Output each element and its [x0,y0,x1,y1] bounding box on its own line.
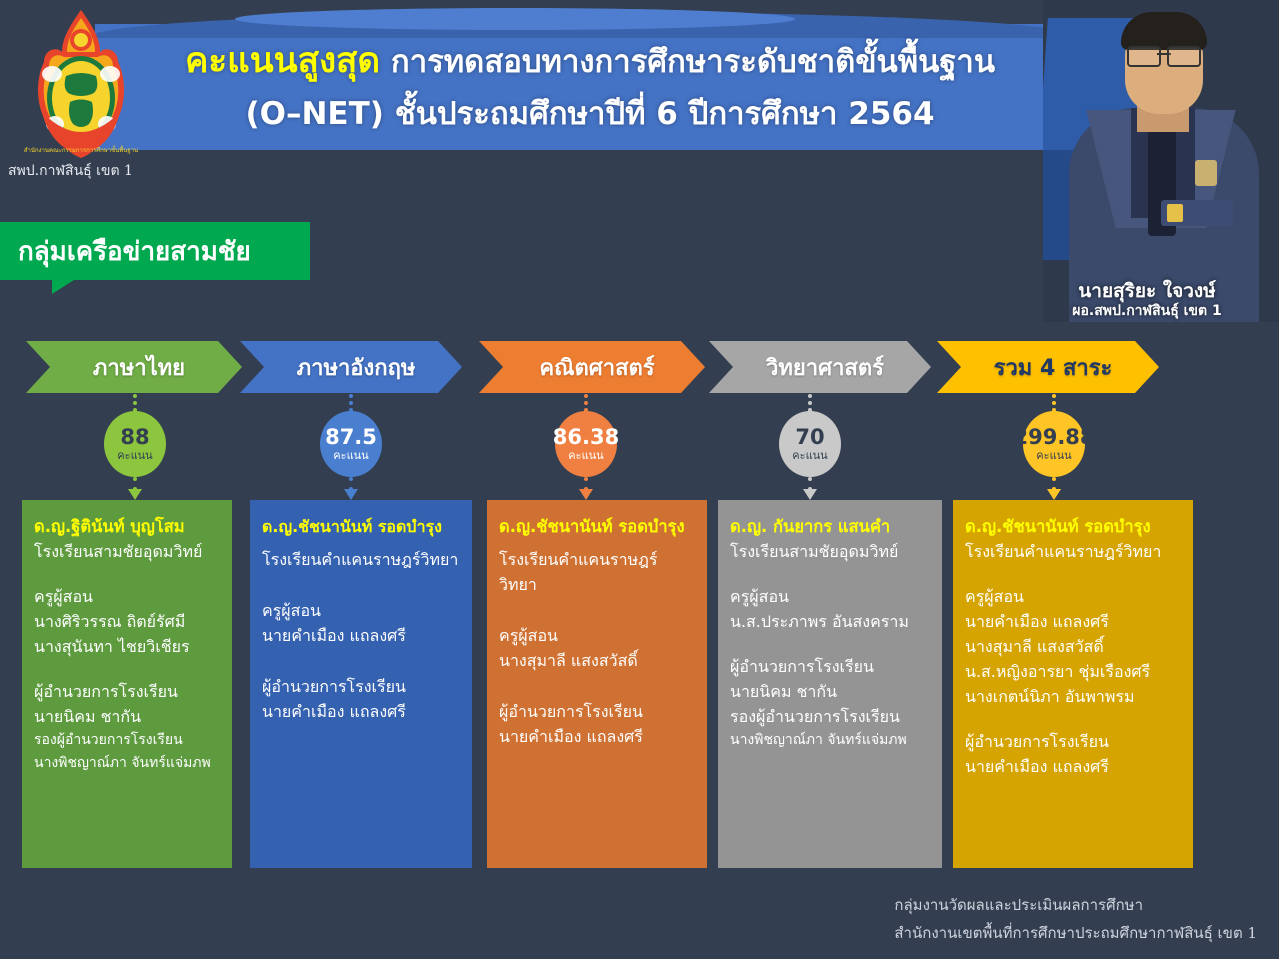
subject-tab-label: รวม 4 สาระ [984,350,1113,385]
score-unit: คะแนน [117,449,152,462]
subject-tab-label: ภาษาอังกฤษ [287,350,416,385]
teacher-name: นางศิริวรรณ ถิตย์รัศมี [34,609,220,634]
score-unit: คะแนน [333,449,368,462]
student-name: ด.ญ.ชัชนานันท์ รอดบำรุง [965,514,1181,539]
teacher-label: ครูผู้สอน [262,598,460,623]
group-name-label: กลุ่มเครือข่ายสามชัย [0,231,251,272]
student-name: ด.ญ. กันยากร แสนคำ [730,514,930,539]
result-card-math: ด.ญ.ชัชนานันท์ รอดบำรุง โรงเรียนคำแคนราษ… [487,500,707,868]
subject-tab-science[interactable]: วิทยาศาสตร์ [709,341,931,393]
teacher-name: นางสุมาลี แสงสวัสดิ์ [499,648,695,673]
director-label: ผู้อำนวยการโรงเรียน [965,729,1181,754]
portrait-role: ผอ.สพป.กาฬสินธุ์ เขต 1 [1015,302,1279,320]
director-name: นายนิคม ชากัน [34,704,220,729]
subject-tab-label: วิทยาศาสตร์ [756,350,884,385]
title-highlight: คะแนนสูงสุด [185,41,380,81]
director-label: ผู้อำนวยการโรงเรียน [262,674,460,699]
score-value: 88 [120,426,149,448]
subject-tab-english[interactable]: ภาษาอังกฤษ [240,341,462,393]
result-card-english: ด.ญ.ชัชนานันท์ รอดบำรุง โรงเรียนคำแคนราษ… [250,500,472,868]
subject-tab-math[interactable]: คณิตศาสตร์ [479,341,705,393]
subject-tab-total[interactable]: รวม 4 สาระ [937,341,1159,393]
arrow-down-icon [344,489,358,500]
teacher-label: ครูผู้สอน [34,584,220,609]
score-value: 86.38 [553,426,619,448]
student-name: ด.ญ.ชัชนานันท์ รอดบำรุง [499,514,695,539]
teacher-label: ครูผู้สอน [730,584,930,609]
title-line-2: (O–NET) ชั้นประถมศึกษาปีที่ 6 ปีการศึกษา… [110,89,1070,139]
obec-emblem-icon: สำนักงานคณะกรรมการการศึกษาขั้นพื้นฐาน [22,6,140,166]
arrow-down-icon [128,489,142,500]
score-bubble-thai: 88 คะแนน [104,411,166,477]
director-portrait-photo [1043,0,1279,322]
director-name: นายนิคม ชากัน [730,679,930,704]
result-card-total: ด.ญ.ชัชนานันท์ รอดบำรุง โรงเรียนคำแคนราษ… [953,500,1193,868]
director-name: นายคำเมือง แถลงศรี [499,724,695,749]
logo-caption: สพป.กาฬสินธุ์ เขต 1 [8,160,158,182]
score-value: 70 [795,426,824,448]
teacher-name: นางสุมาลี แสงสวัสดิ์ [965,634,1181,659]
deputy-name: นางพิชญาณ์ภา จันทร์แจ่มภพ [730,729,930,752]
teacher-name: น.ส.ประภาพร อันสงคราม [730,609,930,634]
director-label: ผู้อำนวยการโรงเรียน [730,654,930,679]
deputy-label: รองผู้อำนวยการโรงเรียน [34,729,220,752]
score-value: 299.88 [1013,426,1094,448]
header-title-block: คะแนนสูงสุด การทดสอบทางการศึกษาระดับชาติ… [110,34,1070,146]
director-name: นายคำเมือง แถลงศรี [262,699,460,724]
student-name: ด.ญ.ฐิติน้นท์ บุญโสม [34,514,220,539]
subject-tab-label: คณิตศาสตร์ [529,350,654,385]
footer-line-2: สำนักงานเขตพื้นที่การศึกษาประถมศึกษากาฬส… [894,919,1257,947]
connector-dots-top [133,394,137,412]
footer: กลุ่มงานวัดผลและประเมินผลการศึกษา สำนักง… [894,891,1257,947]
result-card-science: ด.ญ. กันยากร แสนคำ โรงเรียนสามชัยอุดมวิท… [718,500,942,868]
portrait-name: นายสุริยะ ใจวงษ์ [1015,280,1279,302]
connector-dots-top [1052,394,1056,412]
school-name: โรงเรียนคำแคนราษฎร์วิทยา [262,547,460,572]
footer-line-1: กลุ่มงานวัดผลและประเมินผลการศึกษา [894,891,1257,919]
teacher-name: น.ส.หญิงอารยา ชุ่มเรืองศรี [965,659,1181,684]
teacher-name: นายคำเมือง แถลงศรี [262,623,460,648]
subject-tab-thai[interactable]: ภาษาไทย [26,341,242,393]
title-line-1: คะแนนสูงสุด การทดสอบทางการศึกษาระดับชาติ… [110,34,1070,89]
score-value: 87.5 [325,426,377,448]
teacher-label: ครูผู้สอน [499,623,695,648]
title-rest: การทดสอบทางการศึกษาระดับชาติขั้นพื้นฐาน [391,44,995,80]
school-name: โรงเรียนสามชัยอุดมวิทย์ [730,539,930,564]
group-name-badge: กลุ่มเครือข่ายสามชัย [0,222,310,280]
director-label: ผู้อำนวยการโรงเรียน [499,699,695,724]
teacher-name: นางเกตน์นิภา อันพาพรม [965,684,1181,709]
connector-dots-top [808,394,812,412]
portrait-caption: นายสุริยะ ใจวงษ์ ผอ.สพป.กาฬสินธุ์ เขต 1 [1015,280,1279,320]
deputy-label: รองผู้อำนวยการโรงเรียน [730,704,930,729]
school-name: โรงเรียนคำแคนราษฎร์วิทยา [499,547,695,597]
arrow-down-icon [803,489,817,500]
score-bubble-math: 86.38 คะแนน [555,411,617,477]
score-bubble-english: 87.5 คะแนน [320,411,382,477]
deputy-name: นางพิชญาณ์ภา จันทร์แจ่มภพ [34,752,220,775]
subject-tab-label: ภาษาไทย [83,350,185,385]
result-card-thai: ด.ญ.ฐิติน้นท์ บุญโสม โรงเรียนสามชัยอุดมว… [22,500,232,868]
score-unit: คะแนน [792,449,827,462]
score-unit: คะแนน [568,449,603,462]
score-bubble-total: 299.88 คะแนน [1023,411,1085,477]
score-unit: คะแนน [1036,449,1071,462]
connector-dots-top [584,394,588,412]
director-label: ผู้อำนวยการโรงเรียน [34,679,220,704]
teacher-name: นางสุนันทา ไชยวิเชียร [34,634,220,659]
school-name: โรงเรียนสามชัยอุดมวิทย์ [34,539,220,564]
teacher-label: ครูผู้สอน [965,584,1181,609]
score-bubble-science: 70 คะแนน [779,411,841,477]
arrow-down-icon [579,489,593,500]
student-name: ด.ญ.ชัชนานันท์ รอดบำรุง [262,514,460,539]
teacher-name: นายคำเมือง แถลงศรี [965,609,1181,634]
school-name: โรงเรียนคำแคนราษฎร์วิทยา [965,539,1181,564]
arrow-down-icon [1047,489,1061,500]
connector-dots-top [349,394,353,412]
director-name: นายคำเมือง แถลงศรี [965,754,1181,779]
poster-root: คะแนนสูงสุด การทดสอบทางการศึกษาระดับชาติ… [0,0,1279,959]
group-badge-tail-icon [52,280,74,294]
